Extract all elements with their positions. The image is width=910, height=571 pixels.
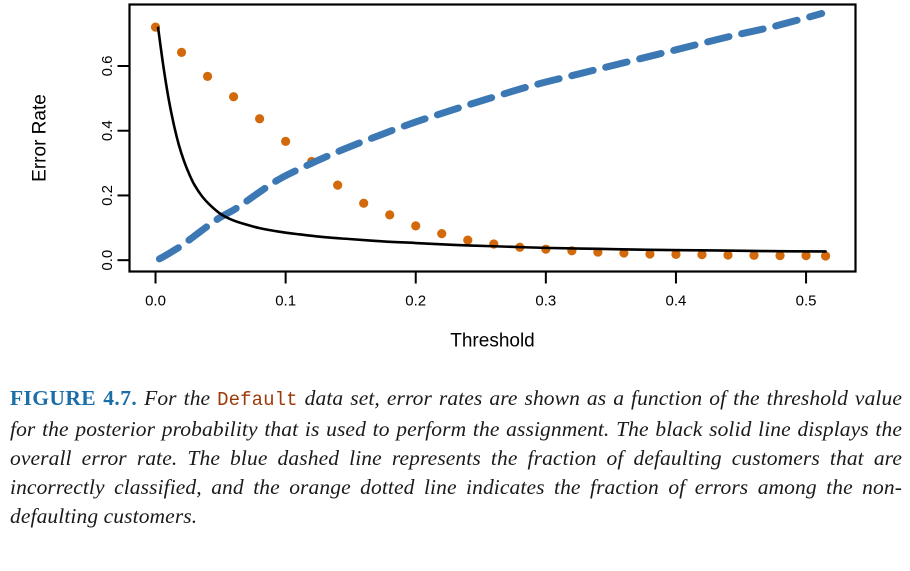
y-tick-label: 0.6 [99, 56, 116, 77]
series-non-defaulters-dotted [151, 23, 830, 261]
data-point [333, 180, 342, 189]
plot-frame [130, 5, 856, 272]
data-point [229, 92, 238, 101]
data-point [437, 229, 446, 238]
figure-page: 0.00.10.20.30.40.5 0.00.20.40.6 Threshol… [0, 0, 910, 571]
x-axis-title: Threshold [450, 331, 535, 352]
y-tick-label: 0.4 [99, 120, 116, 141]
x-tick-label: 0.4 [666, 293, 687, 310]
y-axis-title: Error Rate [30, 94, 51, 182]
data-point [463, 236, 472, 245]
series-line [159, 14, 821, 259]
figure-number: FIGURE 4.7. [10, 386, 137, 410]
data-point [281, 137, 290, 146]
series-overall-solid [158, 28, 825, 252]
data-point [203, 72, 212, 81]
x-tick-label: 0.0 [145, 293, 166, 310]
x-tick-label: 0.2 [405, 293, 426, 310]
chart-figure: 0.00.10.20.30.40.5 0.00.20.40.6 Threshol… [0, 0, 910, 380]
y-tick-label: 0.2 [99, 185, 116, 206]
x-tick-label: 0.3 [535, 293, 556, 310]
x-axis-ticks: 0.00.10.20.30.40.5 [145, 272, 816, 310]
data-point [177, 48, 186, 57]
data-point [385, 210, 394, 219]
caption-text-part-1: For the [137, 386, 217, 410]
series-defaulters-dashed [159, 14, 821, 259]
data-point [821, 251, 830, 260]
data-point [255, 114, 264, 123]
y-tick-label: 0.0 [99, 250, 116, 271]
figure-caption: FIGURE 4.7. For the Default data set, er… [10, 384, 902, 531]
x-tick-label: 0.1 [275, 293, 296, 310]
plot-canvas: 0.00.10.20.30.40.5 0.00.20.40.6 Threshol… [0, 0, 910, 380]
y-axis-ticks: 0.00.20.40.6 [99, 56, 130, 271]
x-tick-label: 0.5 [796, 293, 817, 310]
caption-dataset-name: Default [217, 389, 298, 411]
series-line [158, 28, 825, 252]
data-point [359, 199, 368, 208]
data-point [411, 221, 420, 230]
